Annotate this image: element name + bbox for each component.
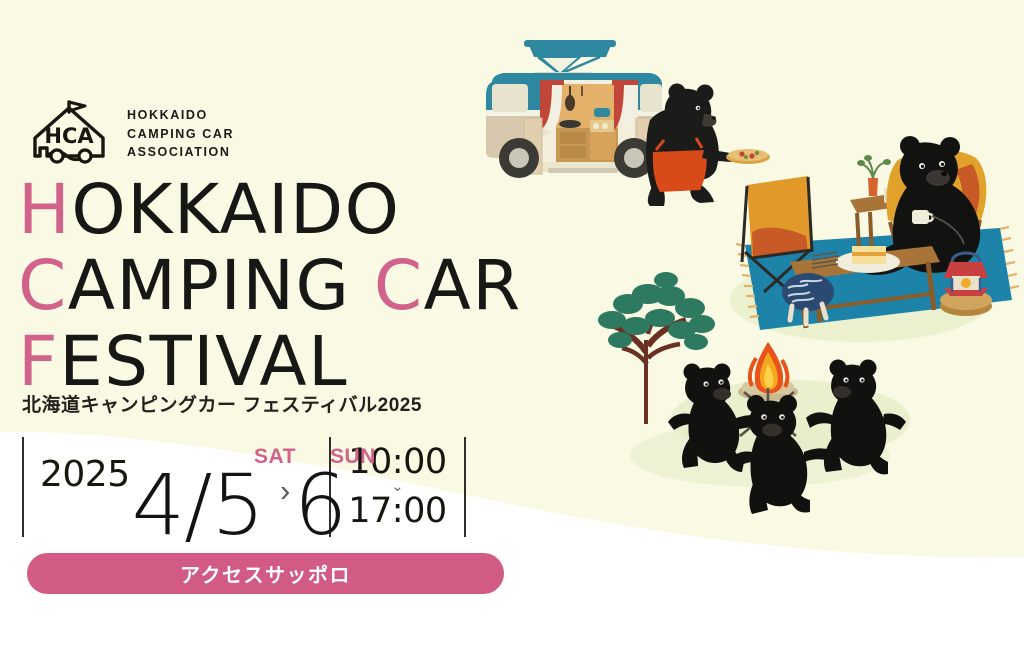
title-line-hokkaido: HOKKAIDO	[18, 178, 522, 242]
subtitle-japanese: 北海道キャンピングカー フェスティバル2025	[22, 390, 422, 417]
event-date-bar: 2025 4/5 › 6 SAT SUN 10:00 ⌄ 17:00	[22, 437, 466, 537]
title-initial-c2: C	[374, 246, 424, 326]
access-sapporo-label: アクセスサッポロ	[180, 559, 351, 588]
hca-logo[interactable]: HCA HOKKAIDO CAMPING CAR ASSOCIATION	[27, 98, 234, 170]
chevron-down-icon: ⌄	[391, 484, 404, 490]
time-end: 17:00	[348, 492, 446, 531]
title-line-camping-car: CAMPING CAR	[18, 254, 522, 318]
logo-line-2: CAMPING CAR	[127, 125, 234, 144]
title-rest-hokkaido: OKKAIDO	[71, 170, 400, 250]
weekday-start: SAT	[254, 445, 296, 469]
event-year: 2025	[40, 457, 130, 493]
access-sapporo-button[interactable]: アクセスサッポロ	[27, 553, 504, 594]
logo-line-1: HOKKAIDO	[127, 106, 234, 125]
logo-wordmark: HOKKAIDO CAMPING CAR ASSOCIATION	[127, 106, 234, 162]
svg-text:HCA: HCA	[44, 124, 94, 148]
logo-line-3: ASSOCIATION	[127, 143, 234, 162]
tent-with-flag-and-wheels-icon: HCA	[27, 98, 111, 170]
festival-poster: HCA HOKKAIDO CAMPING CAR ASSOCIATION HOK…	[0, 0, 1024, 667]
date-range-arrow-icon: ›	[280, 473, 290, 509]
title-initial-c: C	[18, 246, 68, 326]
event-date-end: 6	[294, 469, 347, 543]
title-rest-ar: AR	[424, 246, 522, 326]
date-group: 2025 4/5 › 6 SAT SUN	[24, 437, 329, 537]
date-divider-right	[464, 437, 466, 537]
event-date-start: 4/5	[132, 469, 264, 543]
page-title: HOKKAIDO CAMPING CAR FESTIVAL	[18, 178, 522, 394]
weekday-end: SUN	[330, 445, 376, 469]
title-initial-h: H	[18, 170, 71, 250]
title-line-festival: FESTIVAL	[18, 330, 522, 394]
title-mid-amping: AMPING	[68, 246, 374, 326]
